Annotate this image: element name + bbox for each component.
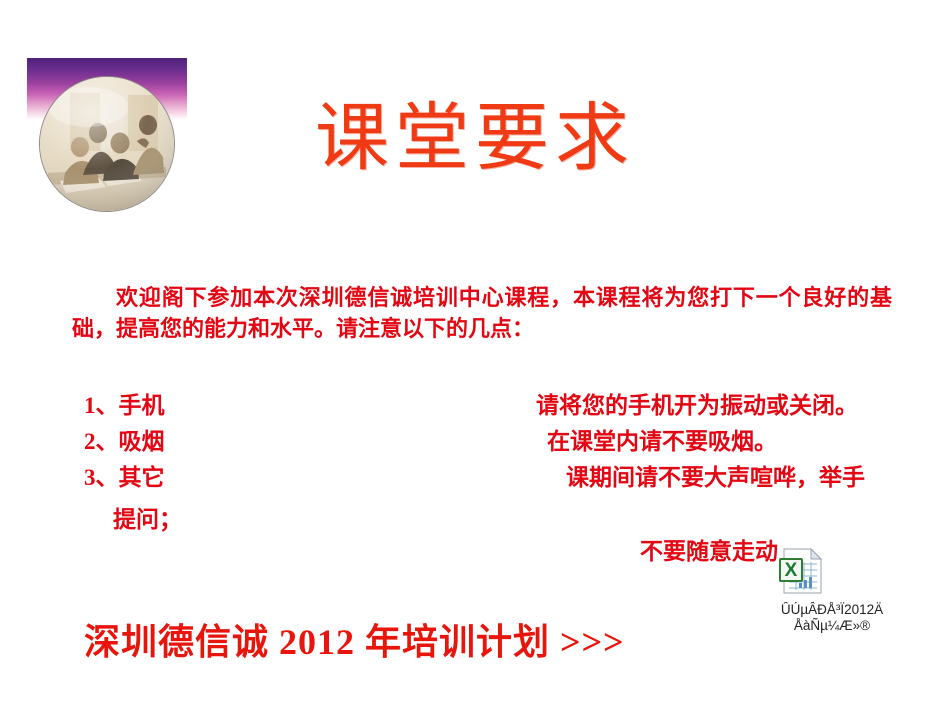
excel-document-icon[interactable]: X (778, 547, 824, 595)
rule-row-3: 3、其它 课期间请不要大声喧哗，举手 (0, 460, 950, 496)
embedded-object-caption: ÛÚµÂÐÅ³Ï2012Ä ÅàÑµ¼Æ»® (714, 602, 950, 634)
rule-3-extra-note: 不要随意走动 (640, 536, 778, 568)
rule-label-2: 2、吸烟 (84, 424, 165, 460)
footer-headline[interactable]: 深圳德信诚 2012 年培训计划 >>> (84, 618, 625, 666)
rule-label-1: 1、手机 (84, 388, 165, 424)
caption-line-1: ÛÚµÂÐÅ³Ï2012Ä (781, 602, 883, 617)
caption-line-2: ÅàÑµ¼Æ»® (794, 618, 870, 633)
slide-title: 课堂要求 (0, 96, 950, 182)
rule-row-2: 2、吸烟 在课堂内请不要吸烟。 (0, 424, 950, 460)
rules-list: 1、手机 请将您的手机开为振动或关闭。 2、吸烟 在课堂内请不要吸烟。 3、其它… (0, 388, 950, 496)
rule-label-3: 3、其它 (84, 460, 165, 496)
embedded-object[interactable]: X ÛÚµÂÐÅ³Ï2012Ä ÅàÑµ¼Æ»® (772, 547, 950, 634)
svg-text:X: X (785, 560, 798, 581)
slide-canvas: 课堂要求 欢迎阁下参加本次深圳德信诚培训中心课程，本课程将为您打下一个良好的基础… (0, 0, 950, 713)
rule-desc-1: 请将您的手机开为振动或关闭。 (536, 388, 858, 424)
rule-3-continuation: 提问； (113, 504, 182, 536)
intro-paragraph: 欢迎阁下参加本次深圳德信诚培训中心课程，本课程将为您打下一个良好的基础，提高您的… (72, 282, 892, 344)
rule-row-1: 1、手机 请将您的手机开为振动或关闭。 (0, 388, 950, 424)
rule-desc-2: 在课堂内请不要吸烟。 (547, 424, 777, 460)
rule-desc-3: 课期间请不要大声喧哗，举手 (566, 460, 865, 496)
